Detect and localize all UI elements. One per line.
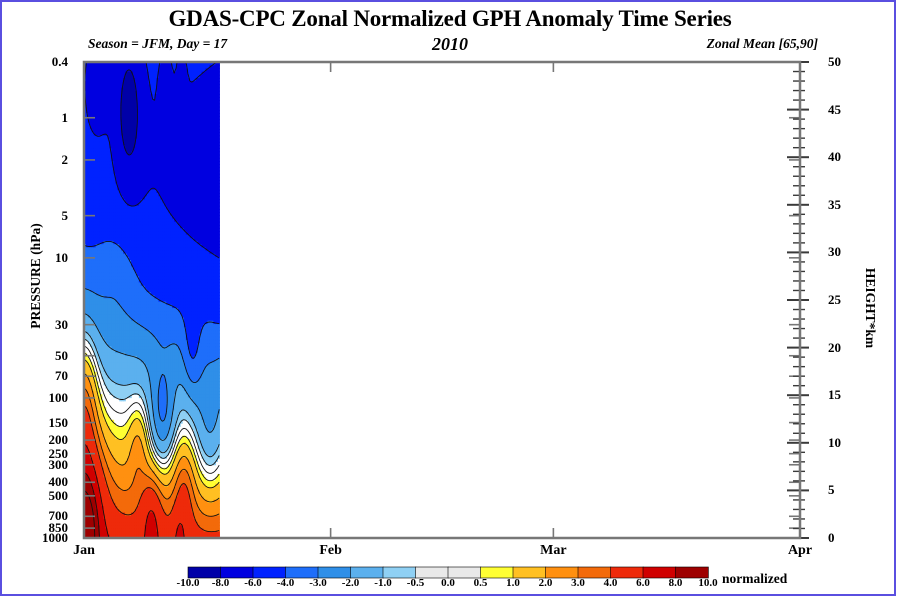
colorbar-tick--4.0: -4.0	[277, 577, 294, 589]
chart-stage: GDAS-CPC Zonal Normalized GPH Anomaly Ti…	[0, 0, 900, 600]
colorbar-tick--3.0: -3.0	[309, 577, 326, 589]
colorbar-tick-10.0: 10.0	[698, 577, 717, 589]
colorbar-tick-0.0: 0.0	[441, 577, 455, 589]
colorbar-tick-1.0: 1.0	[506, 577, 520, 589]
colorbar-tick-0.5: 0.5	[474, 577, 488, 589]
colorbar: -10.0-8.0-6.0-4.0-3.0-2.0-1.0-0.50.00.51…	[0, 0, 900, 600]
colorbar-tick--2.0: -2.0	[342, 577, 359, 589]
colorbar-tick-4.0: 4.0	[604, 577, 618, 589]
colorbar-tick--1.0: -1.0	[374, 577, 391, 589]
colorbar-tick-2.0: 2.0	[539, 577, 553, 589]
colorbar-tick-6.0: 6.0	[636, 577, 650, 589]
colorbar-tick--10.0: -10.0	[177, 577, 200, 589]
colorbar-tick--8.0: -8.0	[212, 577, 229, 589]
colorbar-unit-label: normalized	[722, 571, 787, 587]
colorbar-tick-3.0: 3.0	[571, 577, 585, 589]
colorbar-tick--0.5: -0.5	[407, 577, 424, 589]
colorbar-tick--6.0: -6.0	[244, 577, 261, 589]
colorbar-tick-8.0: 8.0	[669, 577, 683, 589]
